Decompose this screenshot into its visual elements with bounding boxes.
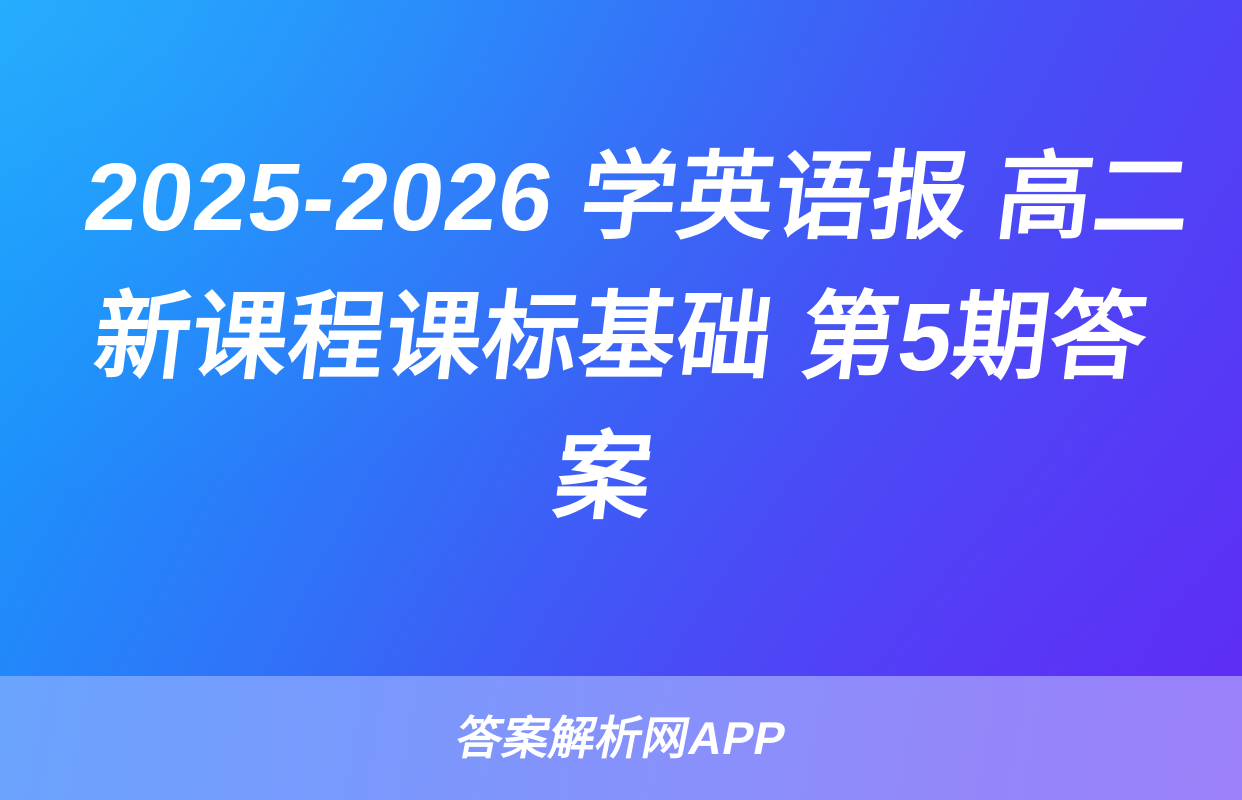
brand-watermark: 答案解析网APP: [452, 715, 790, 761]
headline-area: 2025-2026 学英语报 高二 新课程课标基础 第5期答案: [0, 0, 1242, 676]
page-title: 2025-2026 学英语报 高二 新课程课标基础 第5期答案: [34, 128, 1208, 548]
footer-watermark-band: 答案解析网APP: [0, 676, 1242, 800]
poster-canvas: 2025-2026 学英语报 高二 新课程课标基础 第5期答案 答案解析网APP: [0, 0, 1242, 800]
